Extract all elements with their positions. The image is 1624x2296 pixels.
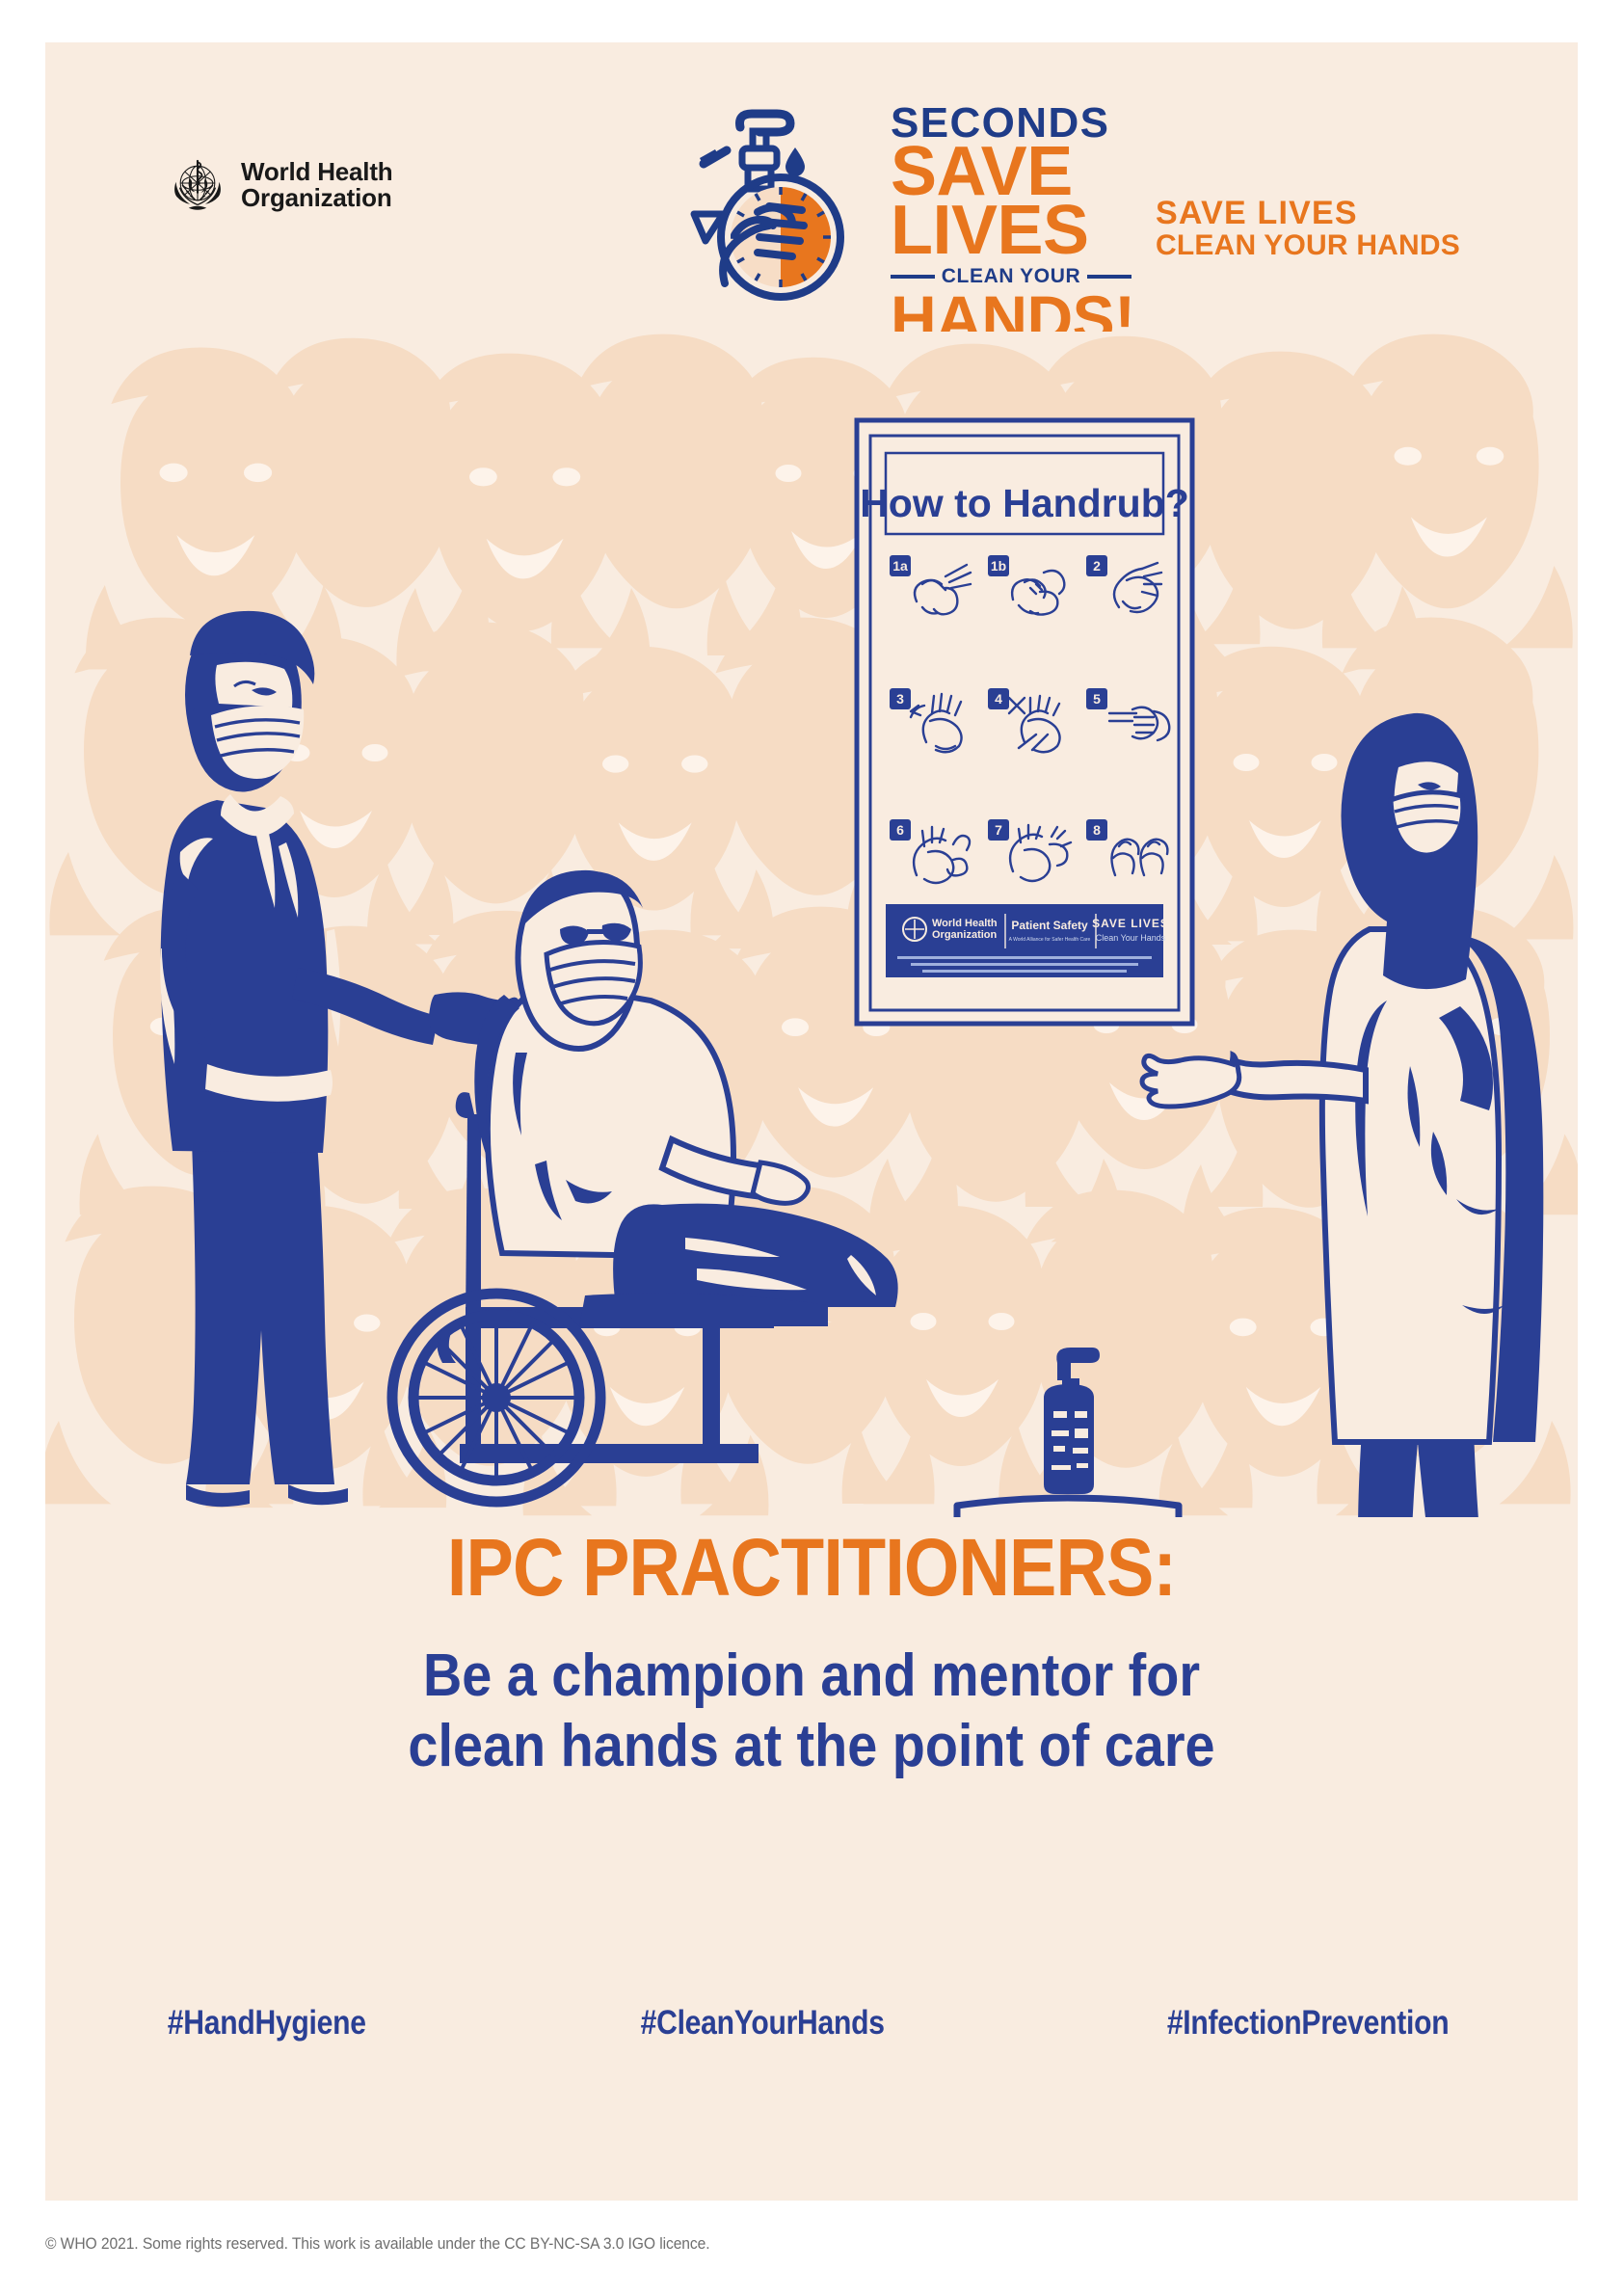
svg-text:Organization: Organization	[932, 929, 998, 941]
tagline-clean-your-hands: CLEAN YOUR HANDS	[1156, 230, 1460, 261]
svg-text:7: 7	[995, 822, 1002, 838]
illustration-scene: How to Handrub? 1a	[45, 332, 1578, 1517]
headline-kicker: IPC PRACTITIONERS:	[137, 1527, 1485, 1608]
svg-text:4: 4	[995, 691, 1002, 707]
campaign-tagline: SAVE LIVES CLEAN YOUR HANDS	[1156, 197, 1460, 260]
hashtag-row: #HandHygiene #CleanYourHands #InfectionP…	[151, 2004, 1472, 2042]
logo-lives: LIVES	[891, 201, 1131, 259]
rule-right	[1087, 275, 1131, 279]
who-logo: World Health Organization	[166, 153, 392, 217]
svg-text:1b: 1b	[991, 558, 1006, 574]
rule-left	[891, 275, 935, 279]
handwash-stopwatch-icon	[677, 94, 885, 303]
svg-text:SAVE LIVES: SAVE LIVES	[1092, 917, 1169, 930]
svg-text:8: 8	[1093, 822, 1101, 838]
svg-text:A World Alliance for Safer Hea: A World Alliance for Safer Health Care	[1009, 937, 1091, 943]
headline-line-1: Be a champion and mentor for	[122, 1641, 1502, 1711]
headline-main: Be a champion and mentor for clean hands…	[122, 1641, 1502, 1781]
hashtag-clean-your-hands[interactable]: #CleanYourHands	[641, 2004, 885, 2042]
headline-line-2: clean hands at the point of care	[122, 1711, 1502, 1781]
who-wordmark: World Health Organization	[241, 159, 392, 211]
svg-text:1a: 1a	[892, 558, 908, 574]
svg-text:6: 6	[896, 822, 904, 838]
copyright-notice: © WHO 2021. Some rights reserved. This w…	[45, 2234, 709, 2254]
headline-block: IPC PRACTITIONERS: Be a champion and men…	[45, 1527, 1578, 1781]
who-wordmark-line2: Organization	[241, 185, 392, 211]
svg-text:2: 2	[1093, 558, 1101, 574]
wall-poster-how-to-handrub: How to Handrub? 1a	[857, 420, 1192, 1024]
svg-text:Clean Your Hands: Clean Your Hands	[1096, 933, 1166, 943]
svg-text:How to Handrub?: How to Handrub?	[860, 481, 1189, 525]
svg-text:Patient Safety: Patient Safety	[1011, 919, 1088, 932]
svg-text:5: 5	[1093, 691, 1101, 707]
svg-text:World Health: World Health	[932, 918, 998, 929]
who-emblem-icon	[166, 153, 229, 217]
who-wordmark-line1: World Health	[241, 159, 392, 185]
hashtag-hand-hygiene[interactable]: #HandHygiene	[168, 2004, 366, 2042]
hashtag-infection-prevention[interactable]: #InfectionPrevention	[1167, 2004, 1450, 2042]
poster-canvas: World Health Organization	[45, 42, 1578, 2201]
tagline-save-lives: SAVE LIVES	[1156, 197, 1460, 230]
seconds-save-lives-wordmark: SECONDS SAVE LIVES CLEAN YOUR HANDS!	[891, 104, 1131, 346]
poster-header: World Health Organization	[45, 42, 1578, 370]
seconds-save-lives-logo: SECONDS SAVE LIVES CLEAN YOUR HANDS!	[677, 62, 1130, 351]
svg-text:3: 3	[896, 691, 904, 707]
